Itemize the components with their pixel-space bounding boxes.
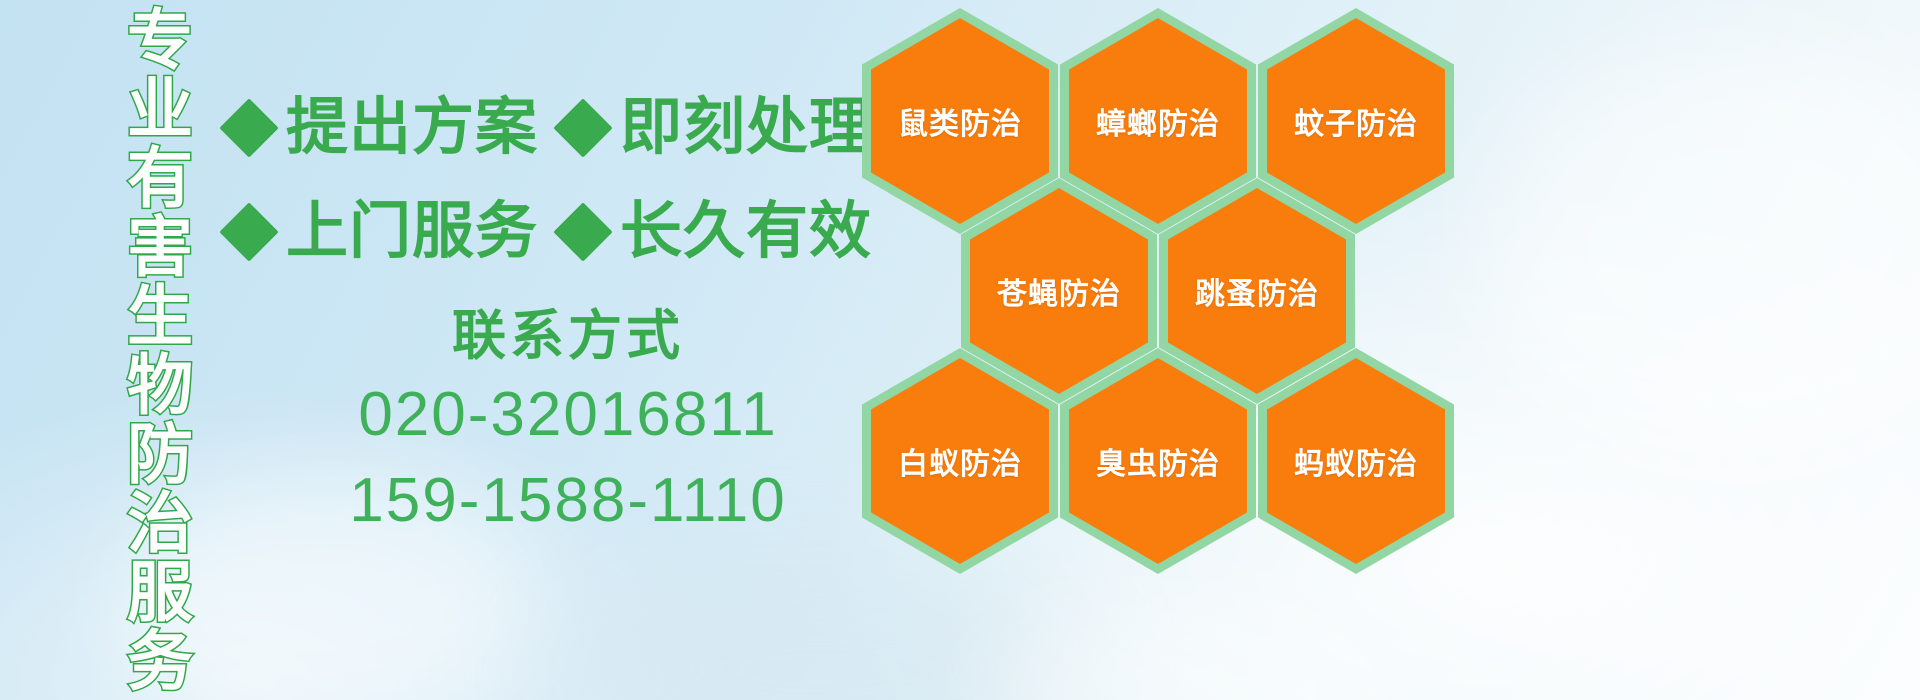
feature-item: 长久有效: [562, 201, 872, 263]
diamond-icon: [219, 98, 278, 157]
feature-row: 提出方案 即刻处理: [228, 76, 878, 180]
diamond-icon: [553, 202, 612, 261]
feature-item: 即刻处理: [562, 97, 872, 159]
vertical-slogan-char: 生: [127, 282, 193, 351]
diamond-icon: [553, 98, 612, 157]
vertical-slogan-char: 物: [127, 351, 193, 420]
vertical-slogan-char: 治: [127, 489, 193, 558]
background-haze-blob: [1480, 40, 1920, 460]
feature-label: 提出方案: [286, 97, 538, 159]
vertical-slogan-char: 业: [127, 75, 193, 144]
vertical-slogan-char: 服: [127, 558, 193, 627]
phone-number-landline[interactable]: 020-32016811: [258, 372, 878, 458]
feature-label: 长久有效: [620, 201, 872, 263]
hex-label: 跳蚤防治: [1195, 269, 1319, 313]
service-honeycomb: 鼠类防治 蟑螂防治 蚊子防治 苍蝇防治 跳蚤防治 白蚁防治 臭虫防治: [862, 0, 1462, 700]
feature-label: 即刻处理: [620, 97, 872, 159]
vertical-slogan-char: 有: [127, 144, 193, 213]
vertical-slogan-char: 害: [127, 213, 193, 282]
vertical-slogan: 专 业 有 害 生 物 防 治 服 务: [108, 6, 212, 696]
hex-label: 白蚁防治: [898, 439, 1022, 483]
feature-item: 上门服务: [228, 201, 538, 263]
contact-title: 联系方式: [258, 300, 878, 372]
feature-item: 提出方案: [228, 97, 538, 159]
contact-block: 联系方式 020-32016811 159-1588-1110: [258, 300, 878, 544]
pest-control-service-banner: 专 业 有 害 生 物 防 治 服 务 提出方案 即刻处理 上门服务: [0, 0, 1920, 700]
vertical-slogan-char: 防: [127, 420, 193, 489]
hex-label: 苍蝇防治: [997, 269, 1121, 313]
phone-number-mobile[interactable]: 159-1588-1110: [258, 458, 878, 544]
hex-label: 蚊子防治: [1294, 99, 1418, 143]
hex-label: 蚂蚁防治: [1294, 439, 1418, 483]
hex-label: 臭虫防治: [1096, 439, 1220, 483]
hex-label: 蟑螂防治: [1096, 99, 1220, 143]
feature-label: 上门服务: [286, 201, 538, 263]
feature-list: 提出方案 即刻处理 上门服务 长久有效: [228, 76, 878, 284]
vertical-slogan-char: 专: [127, 6, 193, 75]
vertical-slogan-char: 务: [127, 627, 193, 696]
diamond-icon: [219, 202, 278, 261]
feature-row: 上门服务 长久有效: [228, 180, 878, 284]
hex-label: 鼠类防治: [898, 99, 1022, 143]
